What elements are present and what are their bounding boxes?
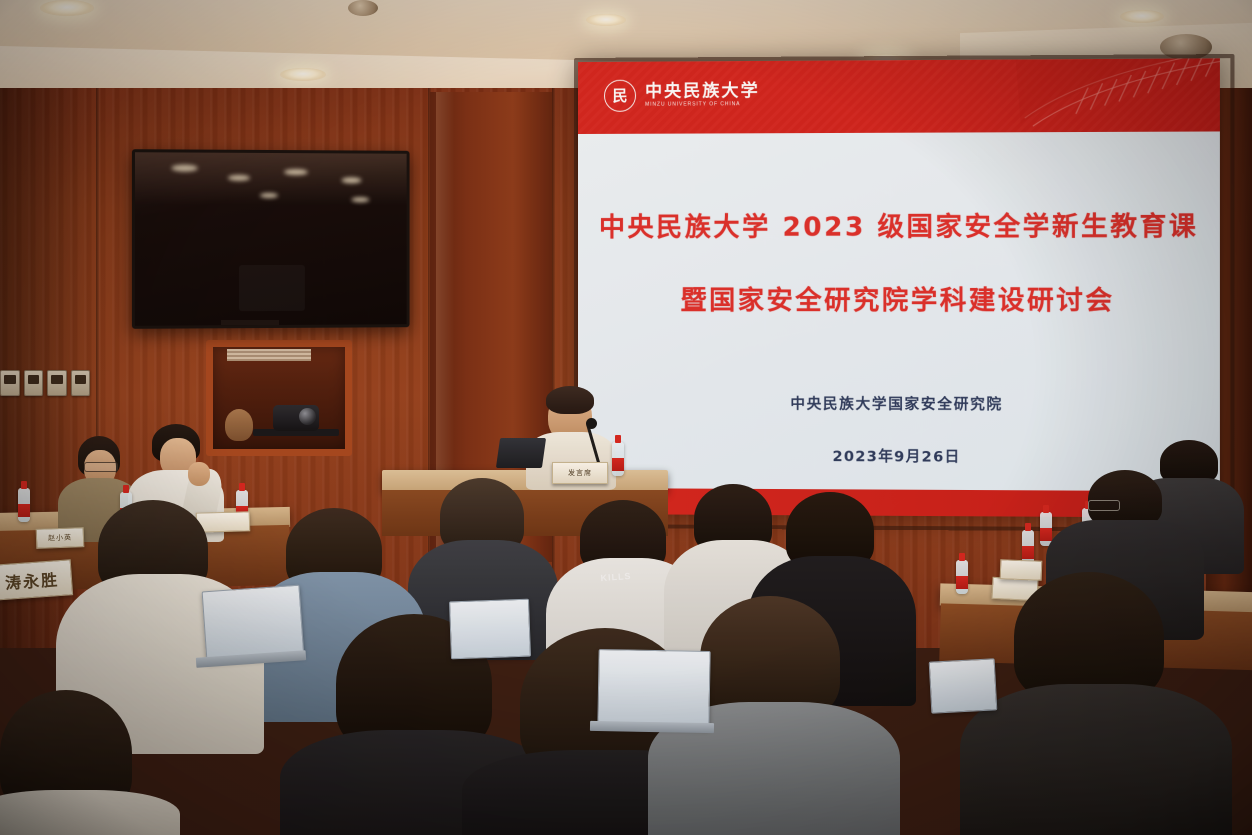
light-reflection [284, 169, 308, 175]
smoke-detector-icon [1160, 34, 1212, 60]
audience-head [1014, 572, 1164, 702]
light-reflection [342, 177, 362, 183]
eyeglasses-icon [1088, 500, 1120, 511]
booth-blind [227, 349, 311, 361]
name-placard [1000, 559, 1043, 580]
logo-name-cn: 中央民族大学 [645, 83, 760, 101]
downlight-icon [586, 14, 626, 26]
wall-plate-icon[interactable] [47, 370, 67, 396]
slide-header-band: 民 中央民族大学 MINZU UNIVERSITY OF CHINA [578, 58, 1220, 134]
laptop-base [590, 721, 714, 733]
water-bottle-icon [612, 442, 624, 476]
wall-panel-seam [552, 88, 555, 648]
wall-plate-icon[interactable] [24, 370, 44, 396]
wall-plate-icon[interactable] [71, 370, 91, 396]
placard-name: 赵小英 [48, 533, 72, 544]
downlight-icon [1120, 10, 1164, 23]
speaker-hair [546, 386, 594, 414]
slide-date: 2023年9月26日 [578, 444, 1220, 468]
podium-laptop[interactable] [496, 438, 546, 468]
water-bottle-icon [1022, 530, 1034, 564]
slide-organization: 中央民族大学国家安全研究院 [578, 392, 1220, 415]
microphone-icon [586, 418, 597, 429]
chinese-eaves-graphic [1015, 58, 1220, 134]
logo-seal-glyph: 民 [612, 88, 627, 103]
logo-name-en: MINZU UNIVERSITY OF CHINA [645, 102, 760, 108]
name-placard: 赵小英 [36, 527, 85, 549]
light-reflection [260, 193, 278, 198]
audience-laptop[interactable] [597, 649, 710, 729]
wall-plate-icon[interactable] [0, 370, 20, 396]
slide-title-line2: 暨国家安全研究院学科建设研讨会 [578, 287, 1220, 316]
name-placard: 涛永胜 [0, 559, 73, 600]
downlight-icon [40, 0, 94, 16]
downlight-icon [280, 68, 326, 81]
smoke-detector-icon [348, 0, 378, 16]
panelist-2-hand [188, 462, 210, 486]
slide-title-line1: 中央民族大学 2023 级国家安全学新生教育课 [578, 213, 1220, 243]
audience-body [960, 684, 1232, 835]
water-bottle-icon [956, 560, 968, 594]
water-bottle-icon [18, 488, 30, 522]
audience-laptop[interactable] [929, 658, 998, 713]
control-booth-window [206, 340, 352, 456]
audience-body [0, 790, 180, 835]
university-logo: 民 中央民族大学 MINZU UNIVERSITY OF CHINA [604, 79, 760, 112]
light-reflection [228, 175, 250, 181]
speaker-placard: 发言席 [552, 462, 608, 484]
tv-brand-logo [239, 265, 305, 311]
placard-name: 涛永胜 [4, 566, 60, 594]
logo-seal-icon: 民 [604, 80, 636, 112]
slide-title: 中央民族大学 2023 级国家安全学新生教育课 暨国家安全研究院学科建设研讨会 [578, 213, 1220, 316]
conference-room-photo: 民 中央民族大学 MINZU UNIVERSITY OF CHINA 中央民族大… [0, 0, 1252, 835]
booth-operator [225, 409, 253, 441]
podium-table-top [382, 470, 668, 492]
tv-stand [221, 320, 279, 325]
audience-laptop[interactable] [449, 599, 531, 660]
camera-icon [273, 405, 319, 431]
eyeglasses-icon [84, 462, 118, 472]
light-reflection [351, 197, 369, 202]
projection-screen: 民 中央民族大学 MINZU UNIVERSITY OF CHINA 中央民族大… [578, 58, 1220, 517]
wall-mounted-display[interactable] [132, 149, 410, 329]
wall-switch-plates [0, 370, 90, 396]
logo-text: 中央民族大学 MINZU UNIVERSITY OF CHINA [645, 83, 760, 108]
light-reflection [171, 165, 197, 172]
